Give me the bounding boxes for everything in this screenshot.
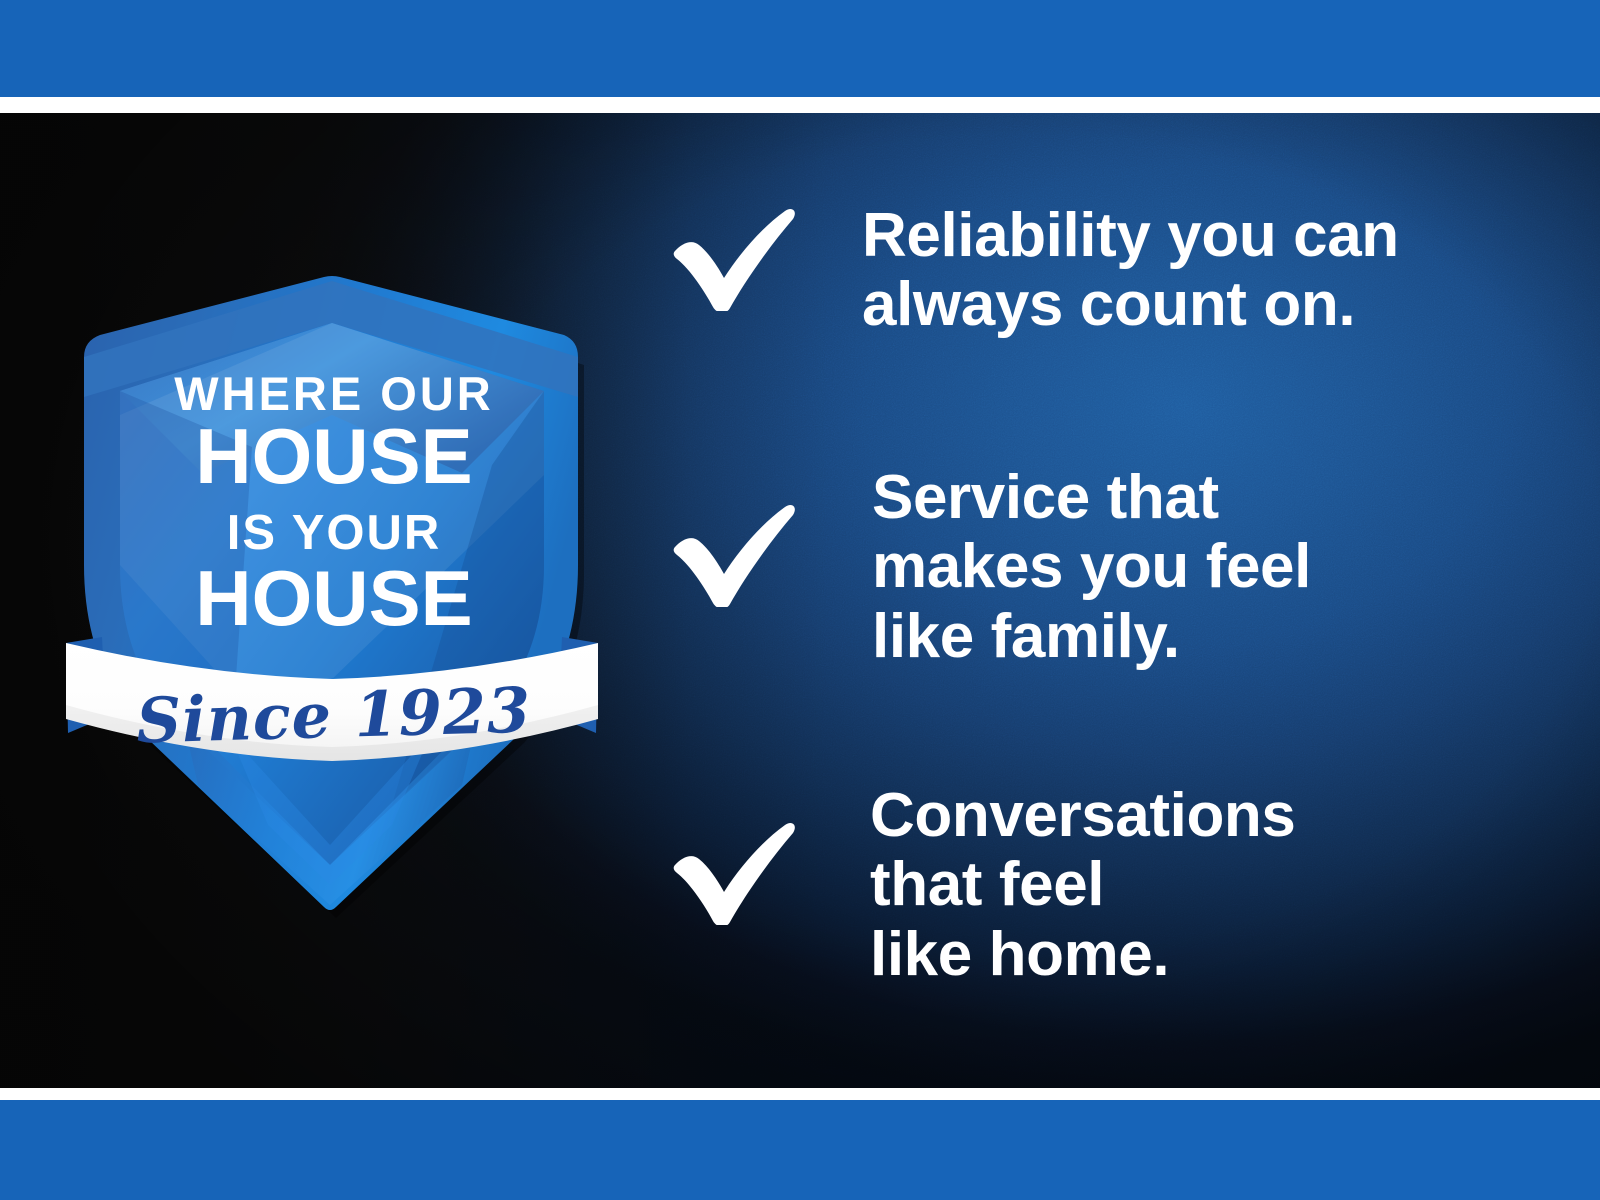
shield-badge: WHERE OUR HOUSE IS YOUR HOUSE Sin bbox=[62, 265, 602, 915]
shield-tagline-line-3: IS YOUR bbox=[227, 506, 442, 560]
main-stage: WHERE OUR HOUSE IS YOUR HOUSE Sin bbox=[0, 113, 1600, 1088]
benefits-list: Reliability you can always count on. Ser… bbox=[660, 113, 1560, 1088]
ribbon-since-text: Since 1923 bbox=[135, 674, 532, 758]
benefit-text: Conversations that feel like home. bbox=[870, 781, 1295, 989]
check-icon bbox=[672, 781, 802, 925]
bottom-brand-bar bbox=[0, 1100, 1600, 1200]
marketing-graphic: WHERE OUR HOUSE IS YOUR HOUSE Sin bbox=[0, 0, 1600, 1200]
benefit-item: Reliability you can always count on. bbox=[672, 201, 1399, 340]
shield-tagline-line-4: HOUSE bbox=[195, 554, 472, 642]
check-icon bbox=[672, 201, 802, 311]
benefit-item: Service that makes you feel like family. bbox=[672, 463, 1311, 671]
benefit-text: Service that makes you feel like family. bbox=[872, 463, 1311, 671]
top-brand-bar bbox=[0, 0, 1600, 97]
shield-tagline-line-2: HOUSE bbox=[195, 412, 472, 500]
check-icon bbox=[672, 463, 802, 607]
benefit-text: Reliability you can always count on. bbox=[862, 201, 1399, 340]
benefit-item: Conversations that feel like home. bbox=[672, 781, 1295, 989]
